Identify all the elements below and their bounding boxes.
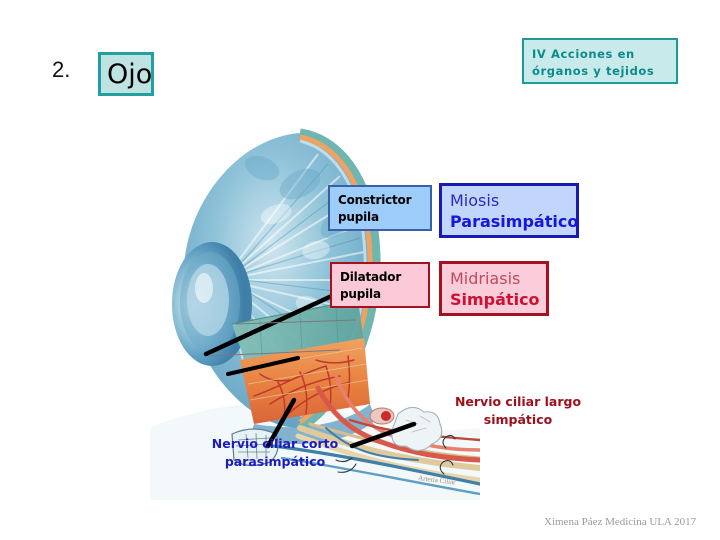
callout-midriasis-simpatico: Midriasis Simpático [439, 261, 549, 316]
label-nervio-corto-line2: parasimpático [199, 453, 351, 471]
section-header-line2: órganos y tejidos [532, 64, 654, 78]
label-nervio-largo-line1: Nervio ciliar largo [440, 393, 596, 411]
label-nervio-ciliar-corto: Nervio ciliar corto parasimpático [199, 435, 351, 471]
section-header-line1: IV Acciones en [532, 47, 635, 61]
callout-constrictor-pupila: Constrictor pupila [328, 185, 432, 231]
label-nervio-corto-line1: Nervio ciliar corto [199, 435, 351, 453]
section-header-badge: IV Acciones en órganos y tejidos [522, 38, 678, 84]
callout-miosis-parasimpatico: Miosis Parasimpático [439, 183, 579, 238]
callout-midriasis-line1: Midriasis [450, 268, 539, 289]
callout-dilatador-pupila: Dilatador pupila [330, 262, 430, 308]
topic-label: Ojo [107, 59, 152, 91]
footer-credit: Ximena Páez Medicina ULA 2017 [544, 516, 696, 528]
callout-constrictor-line2: pupila [338, 209, 423, 226]
callout-midriasis-line2: Simpático [450, 289, 539, 311]
slide-root: 2. Ojo IV Acciones en órganos y tejidos [0, 0, 720, 540]
slide-number: 2. [52, 57, 70, 83]
label-nervio-ciliar-largo: Nervio ciliar largo simpático [440, 393, 596, 429]
topic-box-ojo: Ojo [98, 52, 154, 96]
label-nervio-largo-line2: simpático [440, 411, 596, 429]
callout-dilatador-line1: Dilatador [340, 269, 421, 286]
callout-miosis-line2: Parasimpático [450, 211, 569, 233]
callout-miosis-line1: Miosis [450, 190, 569, 211]
callout-dilatador-line2: pupila [340, 286, 421, 303]
callout-constrictor-line1: Constrictor [338, 192, 423, 209]
